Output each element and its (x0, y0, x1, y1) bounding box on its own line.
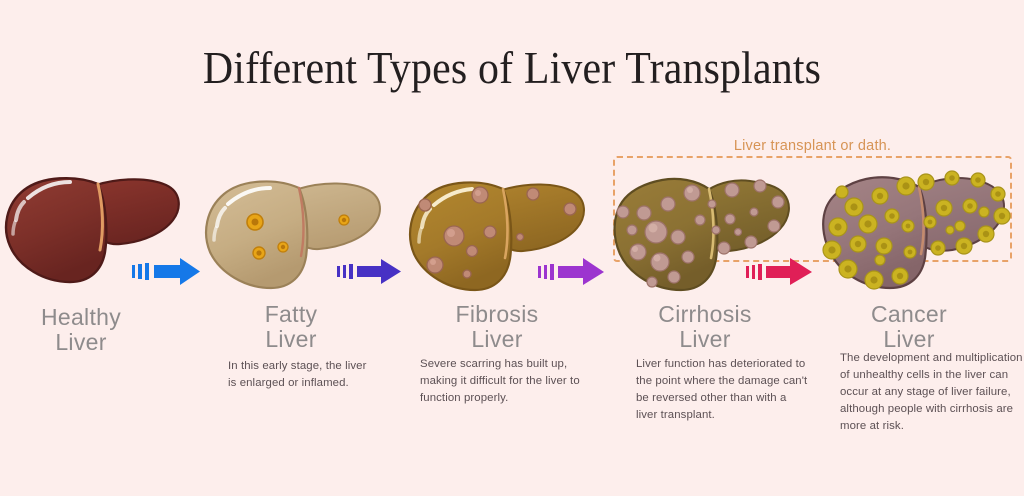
arrow-healthy-to-fatty (130, 256, 206, 286)
stage-name-line1: Fibrosis (456, 301, 539, 327)
stage-name-line1: Cancer (871, 301, 947, 327)
stage-name-line2: Liver (196, 327, 386, 352)
stage-description-fatty: In this early stage, the liver is enlarg… (228, 358, 368, 392)
page-title: Different Types of Liver Transplants (36, 42, 988, 94)
stage-label-fibrosis: Fibrosis Liver (402, 302, 592, 352)
warning-label: Liver transplant or dath. (613, 138, 1012, 154)
cancer-liver-illustration (818, 164, 1008, 304)
stage-description-cirrhosis: Liver function has deteriorated to the p… (636, 356, 811, 424)
stage-name-line1: Healthy (41, 304, 121, 330)
stage-name-line1: Fatty (265, 301, 318, 327)
arrow-fibrosis-to-cirrhosis (536, 256, 612, 286)
stage-label-cirrhosis: Cirrhosis Liver (610, 302, 800, 352)
arrow-fatty-to-fibrosis (335, 256, 411, 286)
stage-name-line2: Liver (0, 330, 176, 355)
stage-description-cancer: The development and multiplication of un… (840, 350, 1024, 435)
stage-name-line1: Cirrhosis (658, 301, 751, 327)
stage-description-fibrosis: Severe scarring has built up, making it … (420, 356, 600, 407)
stage-label-fatty: Fatty Liver (196, 302, 386, 352)
stage-label-cancer: Cancer Liver (814, 302, 1004, 352)
stage-label-healthy: Healthy Liver (0, 305, 176, 355)
stage-name-line2: Liver (402, 327, 592, 352)
stage-name-line2: Liver (814, 327, 1004, 352)
arrow-cirrhosis-to-cancer (744, 256, 820, 286)
infographic-canvas: Different Types of Liver Transplants Liv… (0, 0, 1024, 496)
stage-name-line2: Liver (610, 327, 800, 352)
